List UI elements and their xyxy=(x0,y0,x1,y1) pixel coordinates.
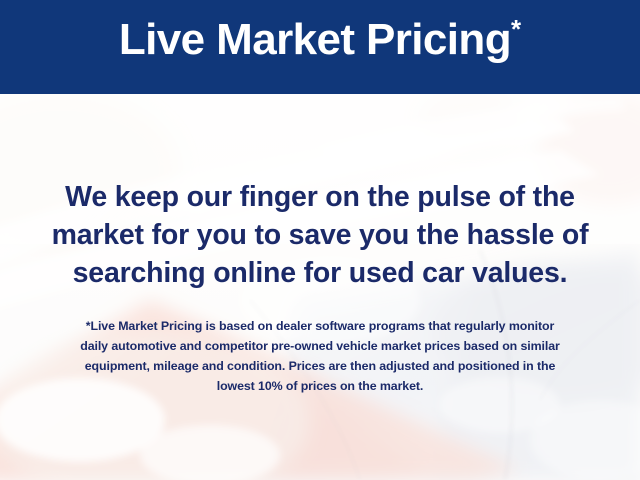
header-banner: Live Market Pricing* xyxy=(0,0,640,94)
disclaimer: *Live Market Pricing is based on dealer … xyxy=(28,316,612,396)
banner-title-asterisk: * xyxy=(511,14,521,44)
disclaimer-line-1: *Live Market Pricing is based on dealer … xyxy=(28,316,612,336)
headline-line-2: market for you to save you the hassle of xyxy=(22,216,618,254)
banner-title: Live Market Pricing* xyxy=(0,16,640,62)
headline-line-3: searching online for used car values. xyxy=(22,254,618,292)
disclaimer-line-4: lowest 10% of prices on the market. xyxy=(28,376,612,396)
live-market-pricing-ad: Live Market Pricing* We keep our finger … xyxy=(0,0,640,480)
headline-line-1: We keep our finger on the pulse of the xyxy=(22,178,618,216)
disclaimer-line-2: daily automotive and competitor pre-owne… xyxy=(28,336,612,356)
disclaimer-line-3: equipment, mileage and condition. Prices… xyxy=(28,356,612,376)
headline: We keep our finger on the pulse of the m… xyxy=(22,178,618,292)
banner-title-text: Live Market Pricing xyxy=(119,15,511,64)
